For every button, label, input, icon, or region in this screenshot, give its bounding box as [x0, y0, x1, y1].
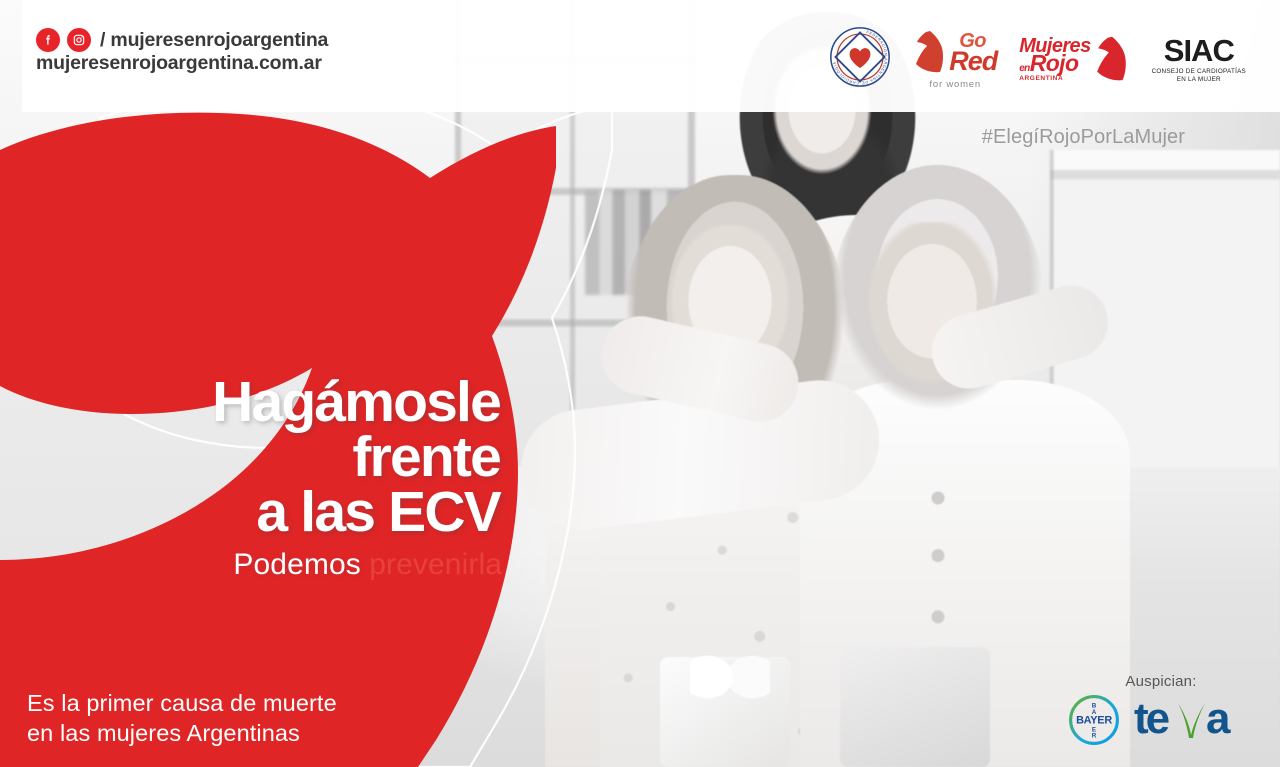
sponsors-block: Auspician: BAYER B A E R: [1068, 673, 1254, 751]
red-dress-icon: [913, 30, 947, 76]
logo-go-red-for-women: Go Red for women: [913, 30, 997, 90]
social-handle: / mujeresenrojoargentina: [100, 29, 328, 52]
tagline: Es la primer causa de muerte en las muje…: [27, 688, 337, 748]
logo-mujeres-en-rojo: Mujeres enRojo ARGENTINA: [1019, 35, 1129, 85]
campaign-hashtag: #ElegíRojoPorLaMujer: [982, 126, 1185, 149]
svg-text:a: a: [1206, 697, 1231, 743]
logo-strip: FEDERACION ARGENTINA DE CARDIOLOGIA Go R…: [829, 26, 1246, 93]
siac-subtitle-line1: CONSEJO DE CARDIOPATÍAS: [1152, 68, 1246, 76]
logo-teva: te a: [1134, 697, 1254, 748]
sponsors-label: Auspician:: [1125, 673, 1196, 690]
website-url: mujeresenrojoargentina.com.ar: [36, 53, 328, 75]
svg-text:te: te: [1134, 697, 1169, 743]
social-block: / mujeresenrojoargentina mujeresenrojoar…: [36, 28, 328, 75]
siac-subtitle-line2: EN LA MUJER: [1152, 76, 1246, 84]
tagline-line-2: en las mujeres Argentinas: [27, 718, 337, 748]
headline-line-1: Hagámosle: [0, 375, 500, 430]
logo-bayer: BAYER B A E R: [1068, 694, 1120, 751]
mujeres-prefix: en: [1019, 63, 1029, 74]
cardigan-buttons: [930, 480, 946, 660]
instagram-icon[interactable]: [67, 28, 91, 52]
mujeres-country: ARGENTINA: [1019, 76, 1090, 81]
tagline-line-1: Es la primer causa de muerte: [27, 688, 337, 718]
page-title: Hagámosle frente a las ECV: [0, 375, 500, 540]
siac-wordmark: SIAC: [1164, 35, 1234, 66]
gift-bow-right: [860, 635, 955, 697]
go-red-line2: Red: [949, 50, 997, 72]
mujeres-line2: Rojo: [1030, 50, 1079, 76]
subheadline: Podemos prevenirla: [0, 548, 502, 582]
subheadline-lead: Podemos: [233, 548, 369, 581]
logo-siac: SIAC CONSEJO DE CARDIOPATÍAS EN LA MUJER: [1152, 35, 1246, 85]
campaign-poster: / mujeresenrojoargentina mujeresenrojoar…: [0, 0, 1280, 767]
red-dress-icon-2: [1094, 35, 1130, 85]
svg-text:R: R: [1092, 733, 1097, 740]
gift-bow-left: [690, 647, 770, 707]
logo-federacion-argentina-de-cardiologia: FEDERACION ARGENTINA DE CARDIOLOGIA: [829, 26, 891, 93]
go-red-tagline: for women: [929, 79, 981, 90]
headline-line-2: frente: [0, 430, 500, 485]
svg-text:BAYER: BAYER: [1076, 715, 1112, 727]
facebook-icon[interactable]: [36, 28, 60, 52]
subheadline-tail: prevenirla: [369, 548, 502, 581]
svg-text:A: A: [1092, 709, 1097, 716]
headline-line-3: a las ECV: [0, 485, 500, 540]
